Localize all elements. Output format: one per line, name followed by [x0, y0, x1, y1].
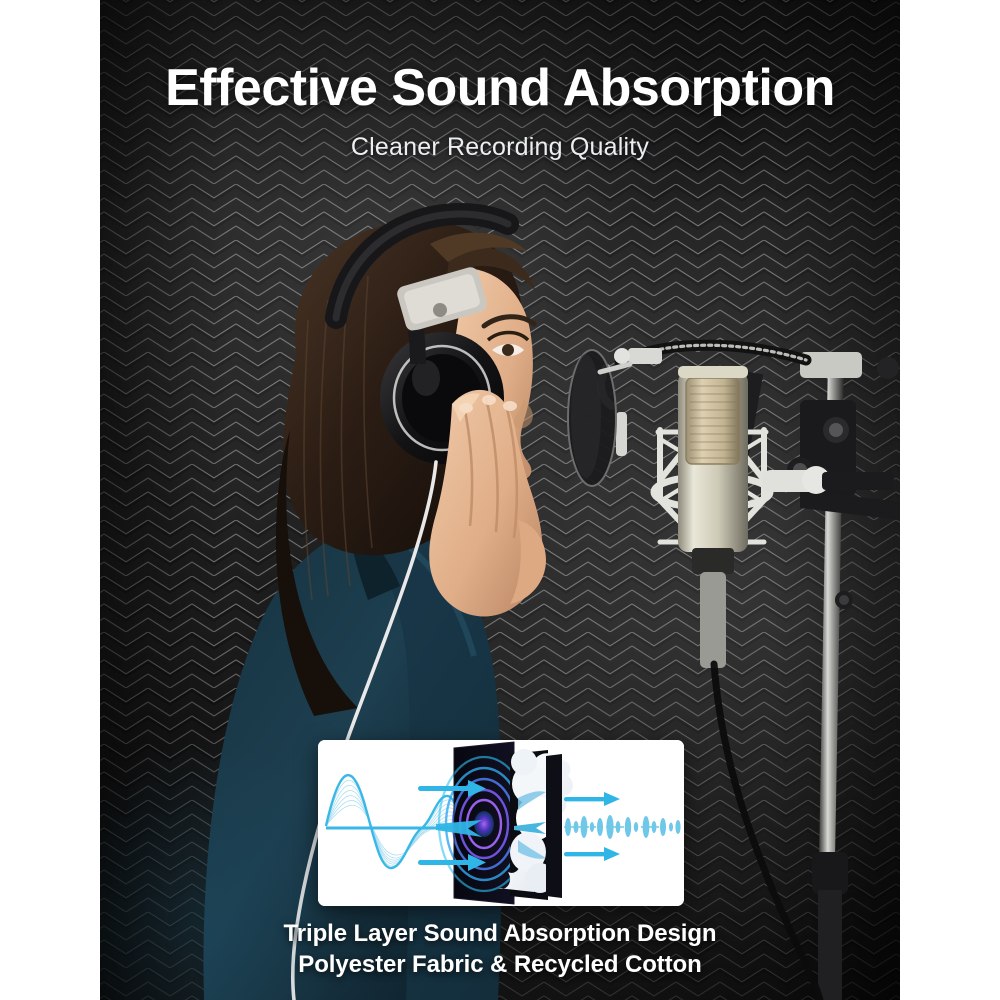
diagram-caption: Triple Layer Sound Absorption Design Pol… — [0, 918, 1000, 980]
diagram-illustration — [318, 740, 684, 906]
product-feature-poster: Effective Sound Absorption Cleaner Recor… — [0, 0, 1000, 1000]
sound-absorption-diagram — [318, 740, 684, 906]
page-title: Effective Sound Absorption — [0, 58, 1000, 118]
caption-line-2: Polyester Fabric & Recycled Cotton — [0, 949, 1000, 980]
headline-block: Effective Sound Absorption Cleaner Recor… — [0, 58, 1000, 162]
page-subtitle: Cleaner Recording Quality — [0, 132, 1000, 162]
outer-panel-edge — [546, 754, 562, 898]
caption-line-1: Triple Layer Sound Absorption Design — [0, 918, 1000, 949]
